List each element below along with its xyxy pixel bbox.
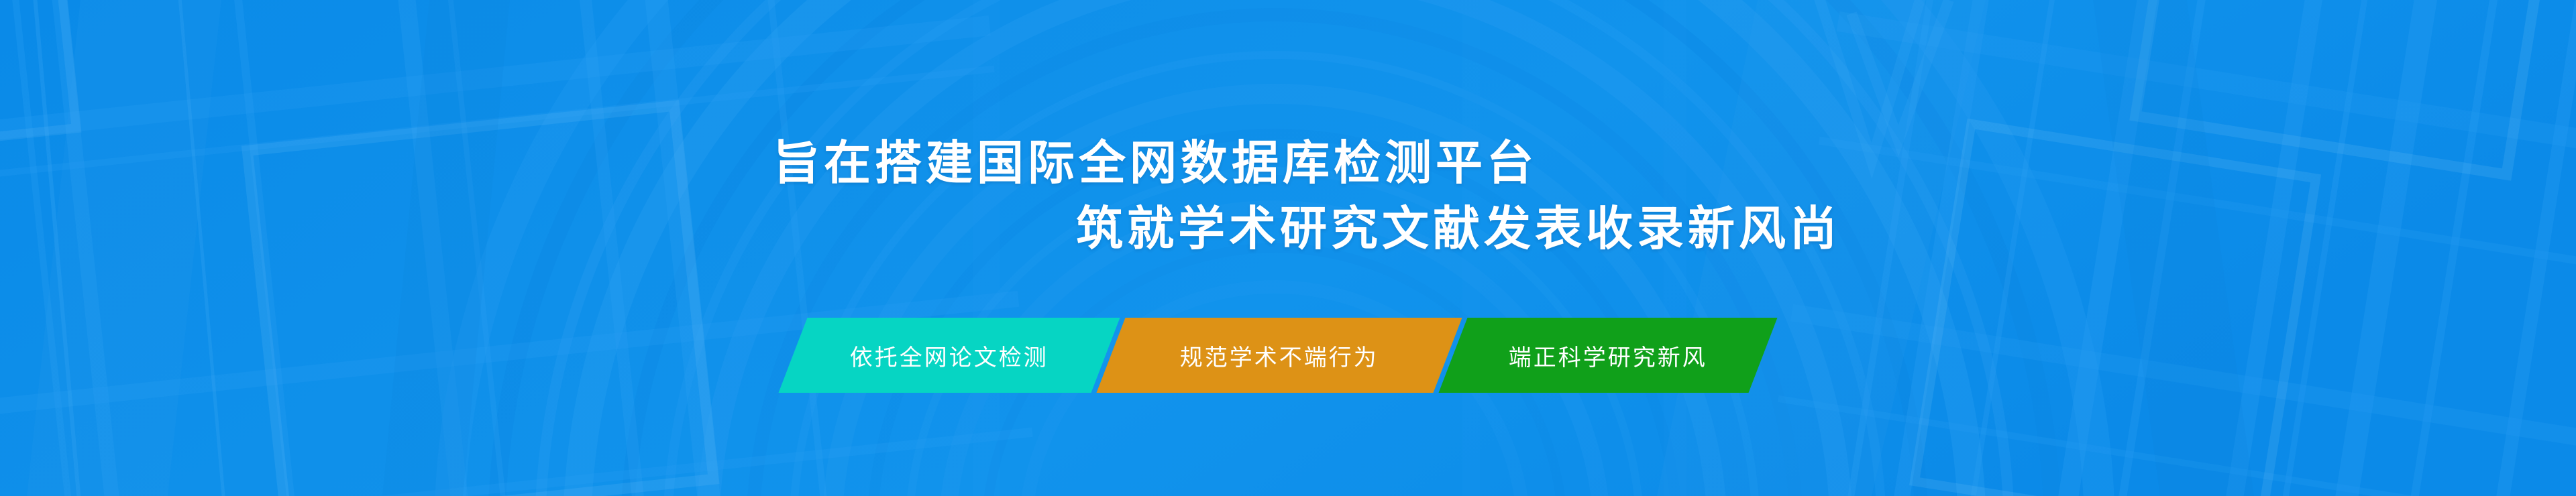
tag-paper-detection[interactable]: 依托全网论文检测: [779, 318, 1120, 393]
tag-paper-detection-label: 依托全网论文检测: [850, 339, 1049, 372]
background-graphic: [0, 0, 2576, 496]
tag-academic-misconduct-label: 规范学术不端行为: [1180, 339, 1379, 372]
feature-tag-ribbon: 依托全网论文检测 规范学术不端行为 端正科学研究新风: [778, 318, 1807, 393]
tag-research-ethos-label: 端正科学研究新风: [1509, 339, 1707, 372]
promo-banner: 旨在搭建国际全网数据库检测平台 筑就学术研究文献发表收录新风尚 依托全网论文检测…: [0, 0, 2576, 496]
tag-academic-misconduct[interactable]: 规范学术不端行为: [1097, 318, 1462, 393]
tag-research-ethos[interactable]: 端正科学研究新风: [1439, 318, 1778, 393]
